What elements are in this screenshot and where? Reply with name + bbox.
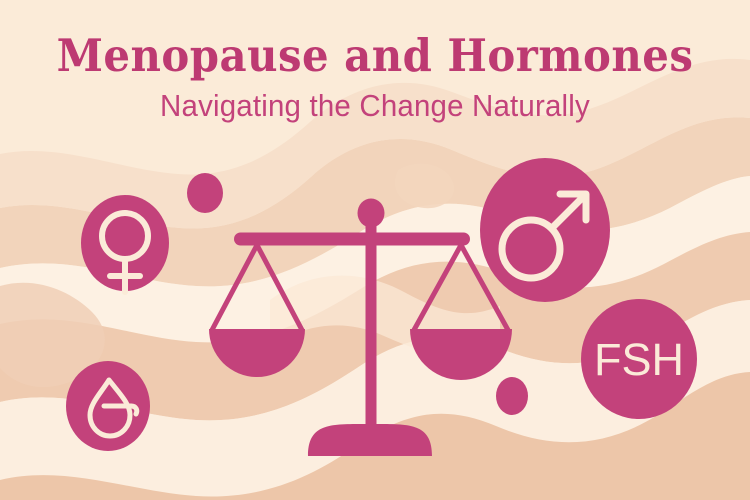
scales-knob	[358, 199, 385, 228]
badge-circle	[480, 158, 610, 302]
poster-canvas: Menopause and Hormones Navigating the Ch…	[0, 0, 750, 500]
scales-base	[308, 424, 432, 456]
scales-beam	[234, 233, 470, 246]
right-scale-pan	[410, 329, 512, 380]
accent-dot-group	[187, 173, 528, 415]
scales-post	[366, 218, 377, 436]
left-pan-strings	[212, 245, 302, 330]
accent-dot	[496, 377, 528, 415]
page-subtitle: Navigating the Change Naturally	[19, 88, 732, 124]
left-scale-pan	[209, 329, 305, 377]
accent-dot	[187, 173, 223, 213]
female-symbol-badge[interactable]	[81, 195, 169, 292]
fsh-hormone-badge[interactable]: FSH	[581, 299, 697, 419]
heading-block: Menopause and Hormones Navigating the Ch…	[0, 30, 750, 124]
male-symbol-badge[interactable]	[480, 158, 610, 302]
estrogen-drop-badge[interactable]	[66, 361, 150, 451]
page-title: Menopause and Hormones	[26, 30, 724, 82]
fsh-badge-label: FSH	[594, 334, 684, 385]
balance-scales-illustration	[209, 199, 512, 457]
